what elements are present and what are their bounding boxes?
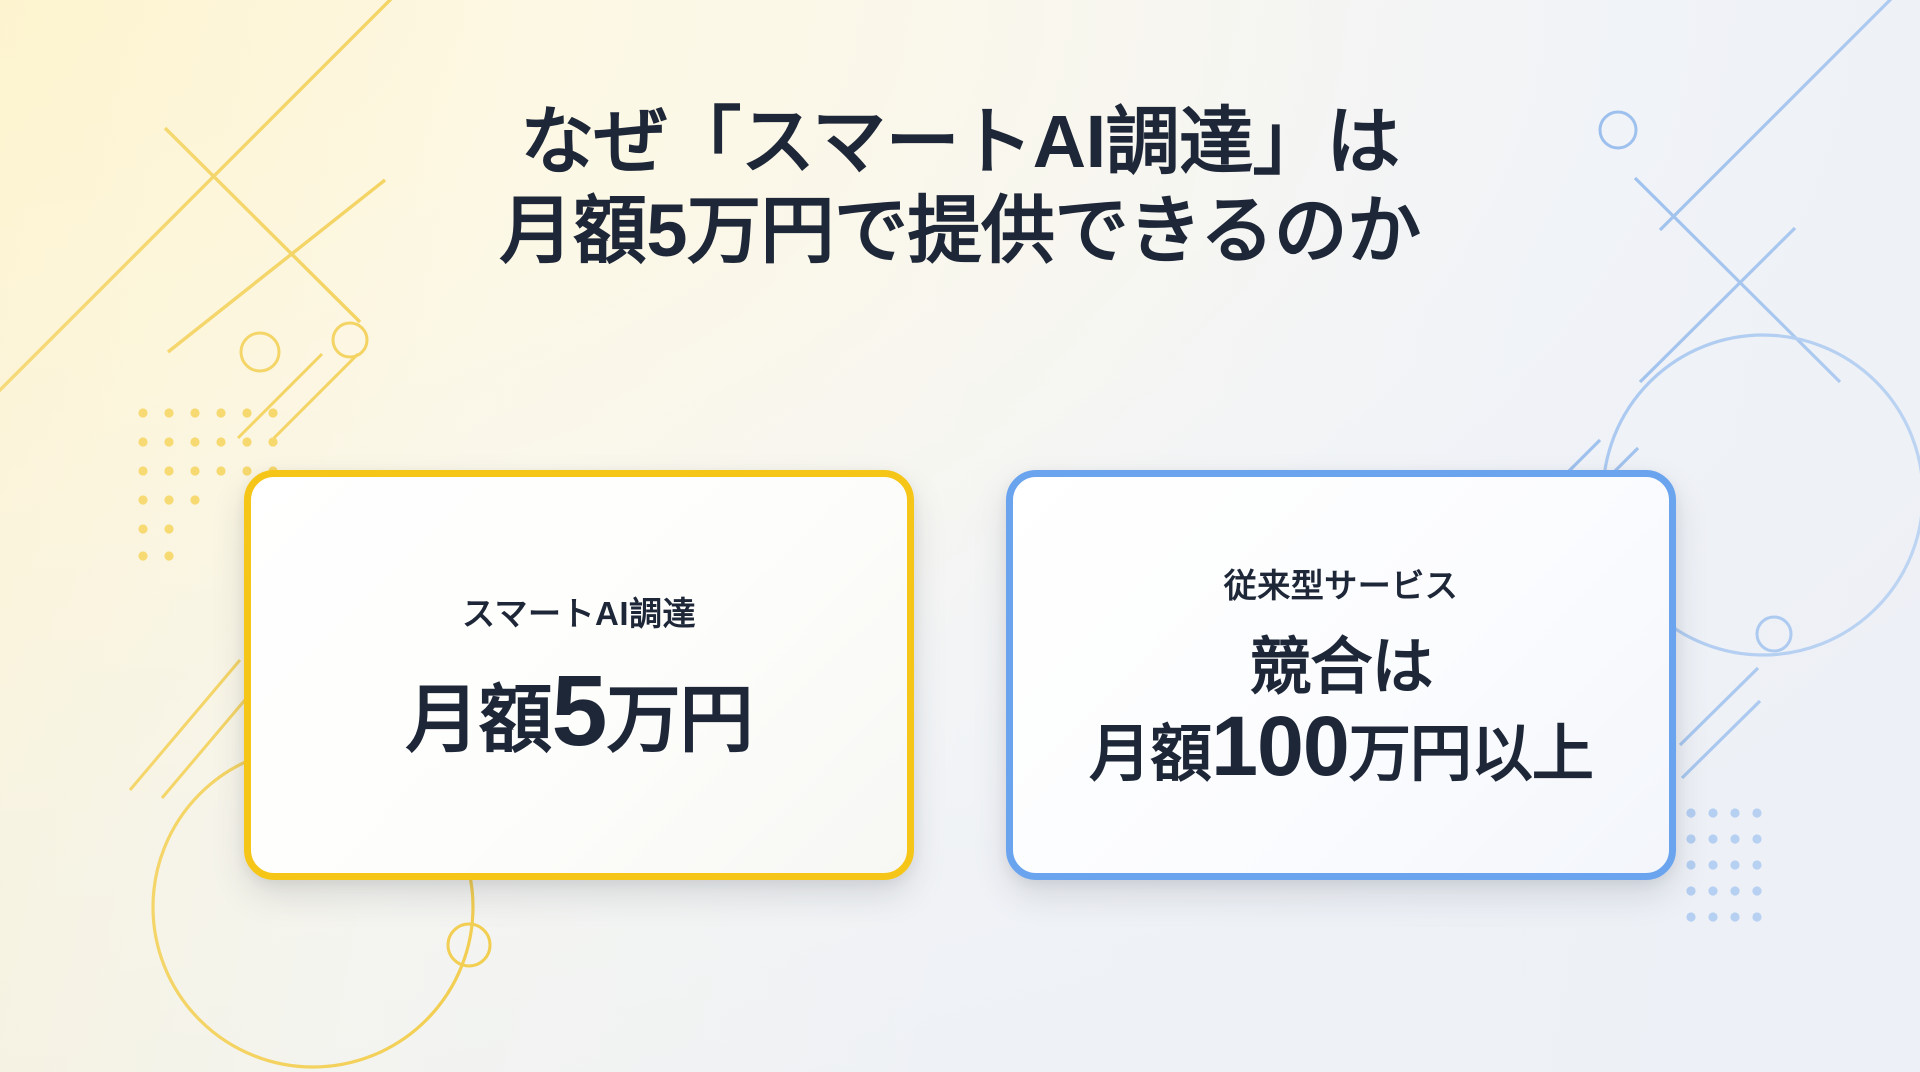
card-conventional-service[interactable]: 従来型サービス 競合は 月額100万円以上 (1006, 470, 1676, 880)
card-value-prefix: 月額 (406, 678, 552, 761)
yellow-circle-outline (238, 330, 282, 374)
card-value-line-2: 月額100万円以上 (1089, 704, 1593, 791)
card-label-conventional: 従来型サービス (1224, 559, 1459, 607)
card-value-smart-ai: 月額5万円 (406, 661, 753, 762)
card-label-smart-ai: スマートAI調達 (462, 587, 696, 635)
page-title: なぜ「スマートAI調達」は 月額5万円で提供できるのか (0, 98, 1920, 276)
yellow-diagonal-lines-upper (210, 330, 400, 440)
yellow-circle-outline-bottom (444, 920, 494, 970)
card-value-suffix-2: 万円以上 (1349, 720, 1593, 789)
comparison-cards: スマートAI調達 月額5万円 従来型サービス 競合は 月額100万円以上 (0, 470, 1920, 880)
card-value-number-2: 100 (1211, 699, 1349, 793)
card-value-conventional: 競合は 月額100万円以上 (1089, 633, 1593, 790)
slide-canvas: なぜ「スマートAI調達」は 月額5万円で提供できるのか スマートAI調達 月額5… (0, 0, 1920, 1072)
card-value-suffix: 万円 (606, 678, 752, 761)
card-smart-ai-procurement[interactable]: スマートAI調達 月額5万円 (244, 470, 914, 880)
page-title-line-2: 月額5万円で提供できるのか (0, 187, 1920, 276)
page-title-line-1: なぜ「スマートAI調達」は (0, 98, 1920, 187)
card-value-prefix-2: 月額 (1089, 720, 1211, 789)
card-value-line-1-text: 競合は (1089, 633, 1593, 704)
card-value-number: 5 (552, 655, 607, 767)
yellow-small-circle-outline (330, 320, 370, 360)
